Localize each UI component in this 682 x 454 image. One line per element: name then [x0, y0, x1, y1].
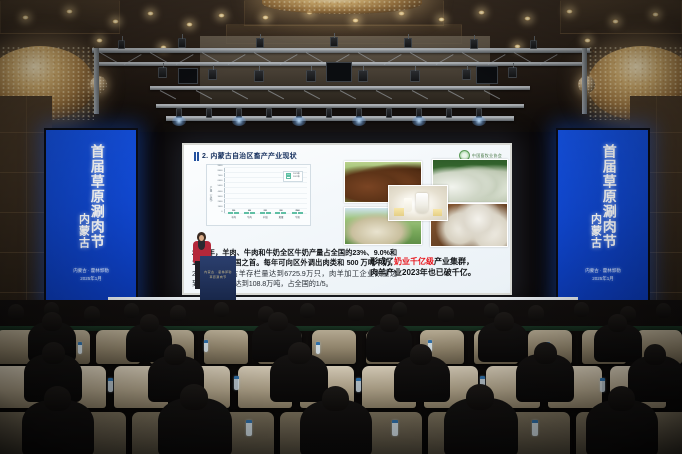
podium: 内蒙古 · 霍林郭勒 草原涮肉节: [200, 256, 236, 300]
led-sub-location: 内蒙古 · 霍林郭勒: [558, 267, 648, 274]
audience-head: [42, 342, 65, 364]
led-banner-left: 首届草原涮肉节 内蒙古 内蒙古 · 霍林郭勒 2025年1月: [44, 128, 138, 306]
light-beam: [172, 116, 186, 126]
chart-bar-2023: 520: [260, 212, 265, 214]
chart-ytick: 8000: [218, 170, 223, 172]
audience-head: [140, 314, 159, 332]
led-banner-title: 首届草原涮肉节 内蒙古: [558, 144, 648, 249]
truss-panel-screen: [178, 68, 198, 84]
light-beam: [292, 116, 306, 126]
right-text-prefix: 形成了: [370, 257, 394, 266]
chart-ytick: 9000: [218, 165, 223, 167]
conference-hall-scene: 首届草原涮肉节 内蒙古 内蒙古 · 霍林郭勒 2025年1月 首届草原涮肉节 内…: [0, 0, 682, 454]
audience-head: [300, 303, 315, 318]
stage-light: [462, 69, 471, 80]
stage-light: [326, 108, 332, 118]
audience-head: [574, 302, 589, 317]
truss-panel-screen: [326, 62, 352, 82]
audience-head: [84, 306, 100, 322]
audience-head: [644, 344, 666, 365]
downlight: [584, 38, 591, 43]
chart-bar-2022: 240: [281, 212, 286, 214]
chart-ytick: 0: [221, 211, 222, 213]
led-sub-location: 内蒙古 · 霍林郭勒: [46, 267, 136, 274]
chart-bar-group: 260 240 禽蛋: [275, 212, 286, 214]
light-beam: [412, 116, 426, 126]
audience-head: [494, 312, 514, 331]
chart-bar-2022: 380: [250, 212, 255, 214]
chart-xtick: 禽蛋: [279, 215, 284, 219]
chart-plot-area: 0 1000 2000 3000 4000 5000 6000 7000 800…: [224, 168, 307, 214]
audience-area: [0, 300, 682, 454]
downlight: [218, 13, 225, 18]
chart-bar-value: 240: [279, 210, 282, 212]
water-bottle: [316, 342, 320, 354]
audience-head: [348, 305, 364, 321]
chart-bar-2023: 260: [275, 212, 280, 214]
led-sub-date: 2025年1月: [46, 275, 136, 282]
chart-xtick: 牛肉: [247, 215, 252, 219]
chart-bar-2023: 410: [244, 212, 249, 214]
audience-head: [124, 303, 139, 318]
audience-head: [528, 305, 544, 321]
bar-chart: 产量（万吨） 0 1000 2000: [206, 164, 311, 226]
chart-bar-2022: 470: [266, 212, 271, 214]
audience-head: [410, 344, 432, 365]
podium-plate-line2: 草原涮肉节: [204, 275, 232, 280]
water-bottle: [392, 420, 398, 436]
chart-ytick: 1000: [218, 206, 223, 208]
chart-xtick: 羊绒: [263, 215, 268, 219]
milk-jug-shape: [416, 193, 429, 212]
downlight: [612, 19, 619, 24]
chart-ytick: 6000: [218, 180, 223, 182]
stage-light: [530, 40, 537, 49]
chart-bar-group: 320 300 羊肉: [228, 212, 239, 214]
audience-head: [608, 386, 635, 411]
led-banner-subtitle: 内蒙古 · 霍林郭勒 2025年1月: [46, 267, 136, 282]
water-bottle: [78, 342, 82, 354]
chart-bar-value: 380: [248, 210, 251, 212]
cheese-shape: [394, 208, 404, 215]
stage-light: [158, 67, 167, 78]
legend-item: 2022年: [286, 176, 300, 179]
audience-head: [214, 302, 229, 317]
chart-legend: 2023年 2022年: [283, 171, 303, 182]
downlight: [352, 18, 359, 23]
slide-right-text: 形成了奶业千亿级产业集群， 肉羊产业2023年也已破千亿。: [370, 256, 502, 279]
cheese-shape: [433, 209, 442, 215]
right-text-suffix: 产业集群，: [434, 257, 474, 266]
legend-swatch-icon: [286, 176, 291, 179]
water-bottle: [600, 378, 605, 392]
chart-ytick: 7000: [218, 175, 223, 177]
stage-light: [266, 108, 272, 118]
stage-light: [306, 70, 316, 82]
downlight: [478, 10, 485, 15]
stage-light: [404, 38, 412, 48]
led-title-main: 首届草原涮肉节: [602, 144, 616, 249]
chart-xtick: 羊肉: [231, 215, 236, 219]
downlight: [438, 17, 445, 22]
stage-light: [446, 108, 452, 118]
legend-label: 2022年: [293, 176, 300, 179]
downlight: [186, 22, 193, 27]
chart-bar-value: 300: [232, 210, 235, 212]
water-bottle: [532, 420, 538, 436]
podium-plate: 内蒙古 · 霍林郭勒 草原涮肉节: [204, 270, 232, 279]
chart-ytick: 3000: [218, 196, 223, 198]
audience-head: [170, 305, 186, 321]
audience-head: [288, 342, 311, 364]
downlight: [66, 9, 73, 14]
podium-plate-line1: 内蒙古 · 霍林郭勒: [204, 270, 232, 275]
light-beam: [472, 116, 486, 126]
ceiling-panel: [0, 0, 120, 34]
audience-head: [534, 342, 557, 364]
stage-light: [358, 70, 368, 82]
led-title-main: 首届草原涮肉节: [90, 144, 104, 249]
audience-head: [656, 303, 671, 318]
chart-bar-2022: 300: [234, 212, 239, 214]
right-text-line2: 肉羊产业2023年也已破千亿。: [370, 267, 502, 279]
led-banner-subtitle: 内蒙古 · 霍林郭勒 2025年1月: [558, 267, 648, 282]
audience-head: [8, 304, 24, 320]
stage-light: [254, 70, 264, 82]
chart-xtick: 牛奶: [295, 215, 300, 219]
light-beam: [352, 116, 366, 126]
audience-head: [164, 344, 186, 365]
chart-ytick: 2000: [218, 201, 223, 203]
downlight: [147, 11, 154, 16]
chart-bar-2023: 7800: [292, 212, 297, 214]
audience-chair: [204, 330, 248, 364]
downlight: [112, 19, 119, 24]
downlight: [652, 12, 659, 17]
water-bottle: [356, 378, 361, 392]
downlight: [96, 38, 103, 43]
chart-bar-value: 6500: [295, 210, 299, 212]
chart-ytick: 5000: [218, 185, 223, 187]
right-text-highlight: 奶业千亿级: [394, 257, 434, 266]
water-bottle: [246, 420, 252, 436]
stage-light: [410, 70, 420, 82]
water-bottle: [108, 378, 113, 392]
audience-head: [380, 314, 399, 332]
audience-head: [180, 384, 208, 410]
stage-light: [330, 37, 338, 47]
audience-head: [438, 306, 454, 322]
presenter-collar: [198, 241, 205, 250]
water-bottle: [234, 376, 239, 390]
downlight: [566, 9, 573, 14]
chart-bar-value: 470: [264, 210, 267, 212]
downlight: [524, 16, 531, 21]
audience-head: [44, 386, 71, 411]
stage-light: [208, 69, 217, 80]
led-banner-title: 首届草原涮肉节 内蒙古: [46, 144, 136, 249]
stage-light: [178, 38, 186, 48]
stage-light: [386, 108, 392, 118]
chart-ytick: 4000: [218, 191, 223, 193]
chandelier-center: [262, 0, 422, 16]
audience-head: [268, 312, 288, 331]
truss-panel-screen: [476, 66, 498, 84]
led-sub-date: 2025年1月: [558, 275, 648, 282]
photo-milk-and-cheese: [388, 185, 448, 221]
milk-glass-shape: [404, 198, 412, 212]
slide-logo-text: 中国畜牧业协会: [472, 153, 502, 159]
stage-light: [206, 108, 212, 118]
chart-bar-2023: 320: [228, 212, 233, 214]
audience-head: [608, 314, 627, 332]
title-bar-icon: [194, 152, 199, 161]
chart-bar-group: 410 380 牛肉: [244, 212, 255, 214]
led-banner-right: 首届草原涮肉节 内蒙古 内蒙古 · 霍林郭勒 2025年1月: [556, 128, 650, 306]
chart-bar-group: 7800 6500 牛奶: [292, 212, 303, 214]
slide-title: 2. 内蒙古自治区畜产产业现状: [194, 151, 297, 161]
water-bottle: [204, 340, 208, 352]
chart-bar-group: 520 470 羊绒: [260, 212, 271, 214]
stage-light: [508, 67, 517, 78]
downlight: [22, 15, 29, 20]
light-beam: [232, 116, 246, 126]
stage-light: [256, 38, 264, 48]
audience-head: [466, 384, 494, 410]
chart-bar-2022: 6500: [298, 212, 303, 214]
audience-head: [42, 312, 62, 331]
stage-light: [470, 39, 478, 49]
led-title-region: 内蒙古: [77, 153, 88, 249]
ceiling-panel: [560, 0, 682, 34]
stage-light: [118, 40, 125, 49]
chart-y-axis-label: 产量（万吨）: [208, 186, 212, 203]
audience-head: [322, 386, 349, 411]
led-title-region: 内蒙古: [589, 153, 600, 249]
slide-title-text: 2. 内蒙古自治区畜产产业现状: [202, 151, 297, 161]
